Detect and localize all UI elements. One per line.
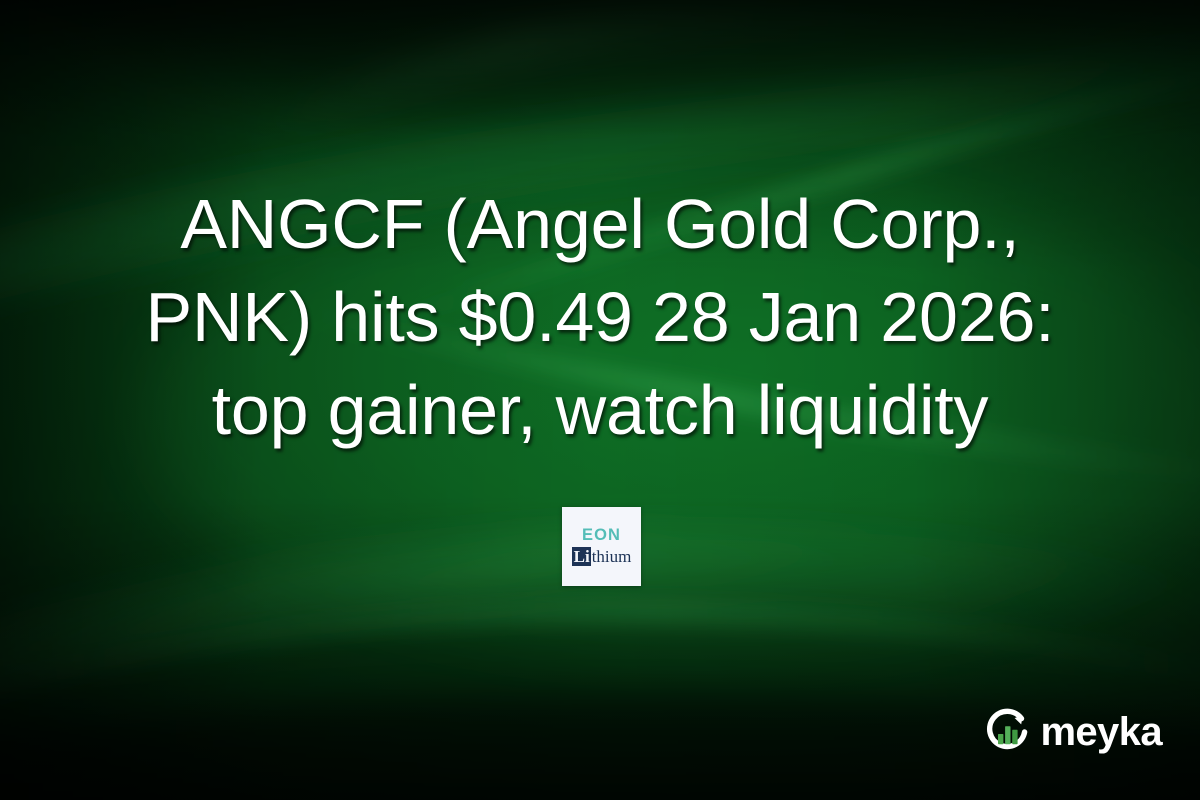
social-share-card: ANGCF (Angel Gold Corp., PNK) hits $0.49… <box>0 0 1200 800</box>
headline-line-1: ANGCF (Angel Gold Corp., <box>34 178 1166 271</box>
brand-lockup: meyka <box>981 706 1162 758</box>
company-logo-eon-text: EON <box>582 527 621 544</box>
company-logo-thium-text: thium <box>592 548 632 565</box>
headline-line-2: PNK) hits $0.49 28 Jan 2026: <box>34 271 1166 364</box>
headline-line-3: top gainer, watch liquidity <box>34 364 1166 457</box>
company-logo-li-box: Li <box>572 547 592 566</box>
company-logo-badge: EON Lithium <box>562 507 641 586</box>
meyka-chart-ring-icon <box>981 706 1033 758</box>
page-title: ANGCF (Angel Gold Corp., PNK) hits $0.49… <box>0 178 1200 457</box>
brand-name: meyka <box>1040 712 1162 752</box>
company-logo-lithium-text: Lithium <box>572 547 632 566</box>
